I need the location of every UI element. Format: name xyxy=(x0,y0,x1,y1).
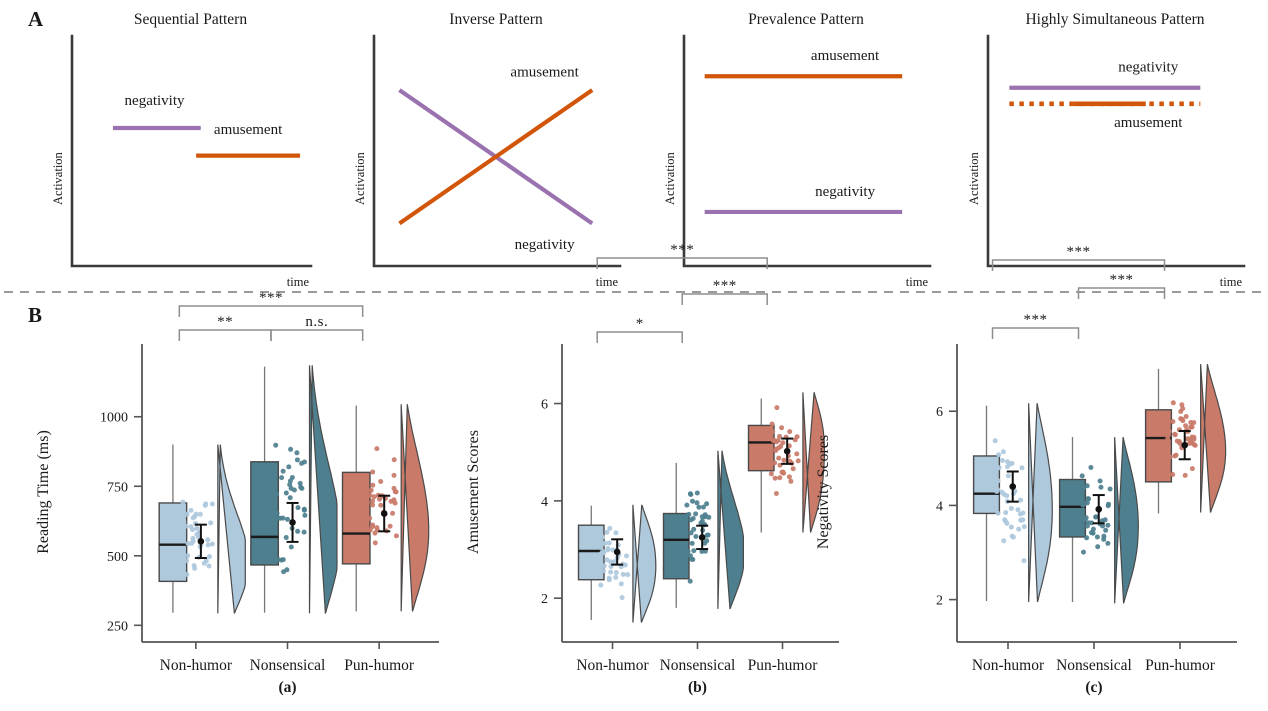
jitter-point-b-0 xyxy=(607,526,612,531)
jitter-point-b-0 xyxy=(623,563,628,568)
jitter-point-b-2 xyxy=(796,458,801,463)
jitter-point-a-0 xyxy=(186,541,191,546)
axis-y-label-prevalence: Activation xyxy=(663,151,677,205)
jitter-point-b-0 xyxy=(597,557,602,562)
jitter-point-a-2 xyxy=(373,531,378,536)
jitter-point-a-1 xyxy=(296,505,301,510)
jitter-point-c-2 xyxy=(1171,400,1176,405)
chart-subcaption-c: (c) xyxy=(1085,679,1102,696)
jitter-point-b-0 xyxy=(599,551,604,556)
sig-bracket-path-c-1 xyxy=(1079,288,1165,299)
jitter-point-c-1 xyxy=(1086,520,1091,525)
jitter-point-b-2 xyxy=(773,476,778,481)
group-b-2 xyxy=(749,392,825,532)
jitter-point-a-2 xyxy=(370,483,375,488)
jitter-point-c-1 xyxy=(1098,479,1103,484)
axis-lines-prevalence xyxy=(684,36,930,266)
jitter-point-c-0 xyxy=(996,452,1001,457)
jitter-point-b-1 xyxy=(695,500,700,505)
jitter-point-b-2 xyxy=(774,491,779,496)
jitter-point-a-0 xyxy=(180,500,185,505)
figure-root: ASequential PatternActivationtimenegativ… xyxy=(0,0,1268,711)
series-label-prevalence-amusement: amusement xyxy=(811,48,880,64)
jitter-point-c-0 xyxy=(1009,525,1014,530)
jitter-point-b-1 xyxy=(696,505,701,510)
xtick-label-c-2: Pun-humor xyxy=(1145,657,1216,674)
jitter-point-a-0 xyxy=(185,553,190,558)
jitter-point-a-2 xyxy=(373,540,378,545)
jitter-point-a-0 xyxy=(205,537,210,542)
xtick-label-c-0: Non-humor xyxy=(972,657,1045,674)
jitter-point-a-2 xyxy=(370,499,375,504)
jitter-point-c-1 xyxy=(1084,515,1089,520)
jitter-point-a-2 xyxy=(392,457,397,462)
violin-c-2 xyxy=(1201,364,1226,512)
jitter-point-c-0 xyxy=(1020,465,1025,470)
sig-bracket-path-c-0 xyxy=(993,328,1079,339)
sig-label-c-0: *** xyxy=(1024,312,1048,328)
jitter-point-b-0 xyxy=(621,572,626,577)
jitter-point-c-2 xyxy=(1183,473,1188,478)
jitter-point-c-1 xyxy=(1086,496,1091,501)
mean-point-a-2 xyxy=(381,510,388,517)
violin-c-1 xyxy=(1115,437,1139,603)
jitter-point-a-1 xyxy=(295,457,300,462)
jitter-point-c-2 xyxy=(1175,439,1180,444)
jitter-point-c-0 xyxy=(1005,521,1010,526)
series-label-inverse-negativity: negativity xyxy=(515,237,575,253)
axis-y-title-a: Reading Time (ms) xyxy=(35,430,52,554)
xtick-label-b-2: Pun-humor xyxy=(748,657,819,674)
jitter-point-a-1 xyxy=(273,443,278,448)
jitter-point-c-1 xyxy=(1105,541,1110,546)
ytick-label-a: 500 xyxy=(107,550,128,565)
jitter-point-b-1 xyxy=(689,517,694,522)
jitter-point-b-1 xyxy=(690,499,695,504)
jitter-point-c-0 xyxy=(993,438,998,443)
jitter-point-a-1 xyxy=(288,447,293,452)
jitter-point-a-2 xyxy=(364,478,369,483)
panel-a-letter: A xyxy=(28,7,44,31)
jitter-point-a-1 xyxy=(288,495,293,500)
axis-x-label-sequential: time xyxy=(287,275,310,289)
jitter-point-b-1 xyxy=(695,491,700,496)
jitter-point-a-2 xyxy=(374,446,379,451)
jitter-point-b-2 xyxy=(769,471,774,476)
jitter-point-c-1 xyxy=(1088,465,1093,470)
xtick-label-b-1: Nonsensical xyxy=(660,657,736,674)
jitter-point-c-0 xyxy=(1018,498,1023,503)
jitter-point-c-0 xyxy=(1010,534,1015,539)
jitter-point-c-2 xyxy=(1172,454,1177,459)
jitter-point-a-0 xyxy=(184,524,189,529)
pattern-panel-highly-simultaneous: Highly Simultaneous PatternActivationtim… xyxy=(967,11,1244,289)
jitter-point-a-0 xyxy=(190,536,195,541)
jitter-point-b-2 xyxy=(788,479,793,484)
jitter-point-a-2 xyxy=(390,511,395,516)
jitter-point-a-0 xyxy=(207,554,212,559)
ytick-label-b: 2 xyxy=(541,592,548,607)
chart-c: 246Negativity ScoresNon-humorNonsensical… xyxy=(815,244,1237,696)
jitter-point-b-0 xyxy=(620,595,625,600)
mean-point-c-1 xyxy=(1095,506,1102,513)
chart-b: 246Amusement ScoresNon-humorNonsensicalP… xyxy=(465,242,839,696)
jitter-point-b-2 xyxy=(779,425,784,430)
jitter-point-a-0 xyxy=(181,528,186,533)
pattern-panel-inverse: Inverse PatternActivationtimenegativitya… xyxy=(353,11,620,289)
jitter-point-a-2 xyxy=(377,497,382,502)
jitter-point-b-1 xyxy=(688,491,693,496)
jitter-point-a-1 xyxy=(278,516,283,521)
violin-b-0 xyxy=(633,505,656,623)
jitter-point-c-2 xyxy=(1178,416,1183,421)
jitter-point-b-0 xyxy=(601,568,606,573)
jitter-point-b-2 xyxy=(794,451,799,456)
sig-label-c-1: *** xyxy=(1110,272,1134,288)
sig-bracket-c-1: *** xyxy=(1079,272,1165,299)
ytick-label-b: 4 xyxy=(541,495,548,510)
jitter-point-a-1 xyxy=(284,535,289,540)
jitter-point-c-2 xyxy=(1170,472,1175,477)
jitter-point-c-1 xyxy=(1103,528,1108,533)
jitter-point-b-2 xyxy=(770,429,775,434)
jitter-point-c-1 xyxy=(1105,523,1110,528)
violin-b-1 xyxy=(718,451,744,609)
group-c-2 xyxy=(1146,364,1226,513)
ytick-label-c: 6 xyxy=(936,405,943,420)
jitter-point-c-2 xyxy=(1183,423,1188,428)
pattern-title-sequential: Sequential Pattern xyxy=(134,11,247,28)
jitter-point-c-2 xyxy=(1188,425,1193,430)
pattern-title-highly-simultaneous: Highly Simultaneous Pattern xyxy=(1025,11,1204,28)
jitter-point-c-1 xyxy=(1080,473,1085,478)
ytick-label-c: 2 xyxy=(936,594,943,609)
jitter-point-c-2 xyxy=(1173,432,1178,437)
xtick-label-a-1: Nonsensical xyxy=(250,657,326,674)
jitter-point-c-1 xyxy=(1099,485,1104,490)
jitter-point-c-0 xyxy=(1022,558,1027,563)
jitter-point-c-0 xyxy=(1010,461,1015,466)
jitter-point-b-2 xyxy=(774,405,779,410)
group-a-2 xyxy=(343,404,429,611)
axis-y-title-b: Amusement Scores xyxy=(465,430,482,554)
jitter-point-a-0 xyxy=(210,502,215,507)
jitter-point-c-1 xyxy=(1091,531,1096,536)
jitter-point-c-0 xyxy=(994,489,999,494)
jitter-point-b-0 xyxy=(619,581,624,586)
sig-label-a-1: n.s. xyxy=(305,314,328,330)
jitter-point-b-1 xyxy=(688,553,693,558)
axis-y-title-c: Negativity Scores xyxy=(815,435,832,549)
xtick-label-a-2: Pun-humor xyxy=(344,657,415,674)
jitter-point-c-1 xyxy=(1095,544,1100,549)
chart-subcaption-b: (b) xyxy=(688,679,707,696)
jitter-point-a-0 xyxy=(184,558,189,563)
group-b-0 xyxy=(579,505,656,623)
box-c-2 xyxy=(1146,410,1172,482)
jitter-point-b-1 xyxy=(691,527,696,532)
figure-canvas: ASequential PatternActivationtimenegativ… xyxy=(0,0,1268,711)
box-a-0 xyxy=(159,503,187,581)
jitter-point-b-0 xyxy=(625,572,630,577)
box-c-0 xyxy=(974,456,1000,513)
axis-x-label-inverse: time xyxy=(596,275,619,289)
jitter-point-a-1 xyxy=(302,507,307,512)
xtick-label-c-1: Nonsensical xyxy=(1056,657,1132,674)
jitter-point-b-2 xyxy=(781,458,786,463)
jitter-point-b-1 xyxy=(693,511,698,516)
mean-point-c-0 xyxy=(1009,483,1016,490)
jitter-point-c-0 xyxy=(1001,449,1006,454)
jitter-point-c-1 xyxy=(1079,510,1084,515)
jitter-point-c-0 xyxy=(1006,473,1011,478)
panel-b-letter: B xyxy=(28,303,42,327)
ytick-label-c: 4 xyxy=(936,499,943,514)
pattern-title-prevalence: Prevalence Pattern xyxy=(748,11,864,28)
jitter-point-a-0 xyxy=(189,524,194,529)
sig-bracket-path-a-0 xyxy=(179,330,271,341)
sig-label-a-0: ** xyxy=(217,314,233,330)
jitter-point-c-0 xyxy=(995,511,1000,516)
chart-a: 2505007501000Reading Time (ms)Non-humorN… xyxy=(35,290,439,696)
jitter-point-a-0 xyxy=(202,561,207,566)
jitter-point-a-0 xyxy=(189,508,194,513)
jitter-point-c-1 xyxy=(1103,517,1108,522)
violin-c-0 xyxy=(1029,403,1053,602)
jitter-point-b-0 xyxy=(598,583,603,588)
jitter-point-b-0 xyxy=(607,577,612,582)
box-a-1 xyxy=(251,462,278,565)
jitter-point-c-2 xyxy=(1167,429,1172,434)
sig-bracket-b-0: * xyxy=(597,316,682,343)
jitter-point-a-0 xyxy=(194,512,199,517)
jitter-point-b-2 xyxy=(791,466,796,471)
axis-x-label-highly-simultaneous: time xyxy=(1220,275,1243,289)
box-b-1 xyxy=(664,514,690,579)
jitter-point-a-2 xyxy=(394,489,399,494)
jitter-point-c-0 xyxy=(1003,510,1008,515)
jitter-point-c-2 xyxy=(1189,435,1194,440)
ytick-label-b: 6 xyxy=(541,398,548,413)
group-c-0 xyxy=(974,403,1053,602)
mean-point-b-0 xyxy=(614,549,621,556)
sig-bracket-a-1: n.s. xyxy=(271,314,363,341)
jitter-point-b-0 xyxy=(614,570,619,575)
jitter-point-a-2 xyxy=(367,516,372,521)
axis-y-label-highly-simultaneous: Activation xyxy=(967,151,981,205)
jitter-point-a-2 xyxy=(392,497,397,502)
jitter-point-a-2 xyxy=(368,528,373,533)
jitter-point-a-0 xyxy=(185,512,190,517)
jitter-point-c-2 xyxy=(1165,436,1170,441)
jitter-point-c-1 xyxy=(1106,503,1111,508)
jitter-point-c-0 xyxy=(1022,524,1027,529)
axis-x-label-prevalence: time xyxy=(906,275,929,289)
jitter-point-c-0 xyxy=(1000,458,1005,463)
jitter-point-a-0 xyxy=(203,501,208,506)
jitter-point-a-1 xyxy=(302,513,307,518)
jitter-point-a-1 xyxy=(275,511,280,516)
jitter-point-b-2 xyxy=(787,474,792,479)
mean-point-c-2 xyxy=(1181,442,1188,449)
jitter-point-a-2 xyxy=(370,470,375,475)
jitter-point-c-1 xyxy=(1085,500,1090,505)
group-a-0 xyxy=(159,445,245,614)
group-b-1 xyxy=(664,451,744,609)
sig-bracket-a-0: ** xyxy=(179,314,271,341)
jitter-point-b-0 xyxy=(613,575,618,580)
jitter-point-b-1 xyxy=(693,534,698,539)
jitter-point-b-2 xyxy=(773,448,778,453)
sig-bracket-c-0: *** xyxy=(993,312,1079,339)
jitter-point-a-1 xyxy=(281,469,286,474)
jitter-point-b-1 xyxy=(691,548,696,553)
sig-bracket-path-a-2 xyxy=(179,306,362,317)
jitter-point-c-2 xyxy=(1179,402,1184,407)
jitter-point-a-0 xyxy=(206,542,211,547)
jitter-point-a-1 xyxy=(302,460,307,465)
sig-label-a-2: *** xyxy=(259,290,283,306)
violin-a-2 xyxy=(401,404,429,611)
pattern-panel-prevalence: Prevalence PatternActivationtimeamusemen… xyxy=(663,11,930,289)
xtick-label-a-0: Non-humor xyxy=(160,657,233,674)
jitter-point-a-2 xyxy=(392,473,397,478)
jitter-point-b-1 xyxy=(686,549,691,554)
axis-y-label-inverse: Activation xyxy=(353,151,367,205)
jitter-point-b-2 xyxy=(768,465,773,470)
jitter-point-a-1 xyxy=(284,567,289,572)
jitter-point-c-0 xyxy=(1009,506,1014,511)
chart-subcaption-a: (a) xyxy=(278,679,296,696)
jitter-point-a-0 xyxy=(192,566,197,571)
jitter-point-b-1 xyxy=(686,512,691,517)
jitter-point-b-0 xyxy=(600,534,605,539)
jitter-point-a-2 xyxy=(378,479,383,484)
jitter-point-c-0 xyxy=(1002,492,1007,497)
panel-b: B2505007501000Reading Time (ms)Non-humor… xyxy=(28,242,1237,696)
sig-label-b-0: * xyxy=(636,316,644,332)
jitter-point-a-2 xyxy=(369,488,374,493)
series-label-highly-simultaneous-negativity: negativity xyxy=(1118,60,1178,76)
sig-label-b-2: *** xyxy=(670,242,694,258)
jitter-point-b-2 xyxy=(777,475,782,480)
jitter-point-a-1 xyxy=(276,557,281,562)
jitter-point-c-0 xyxy=(1001,538,1006,543)
jitter-point-b-2 xyxy=(770,422,775,427)
jitter-point-c-0 xyxy=(1018,518,1023,523)
mean-point-a-1 xyxy=(289,519,296,526)
jitter-point-b-2 xyxy=(772,438,777,443)
axis-lines-highly-simultaneous xyxy=(988,36,1244,266)
series-label-prevalence-negativity: negativity xyxy=(815,184,875,200)
jitter-point-a-1 xyxy=(287,482,292,487)
jitter-point-c-0 xyxy=(1016,527,1021,532)
jitter-point-a-1 xyxy=(298,481,303,486)
jitter-point-c-0 xyxy=(996,478,1001,483)
jitter-point-a-1 xyxy=(289,545,294,550)
jitter-point-a-1 xyxy=(292,488,297,493)
jitter-point-a-2 xyxy=(378,503,383,508)
ytick-label-a: 750 xyxy=(107,480,128,495)
jitter-point-a-0 xyxy=(210,542,215,547)
jitter-point-b-0 xyxy=(602,563,607,568)
jitter-point-a-1 xyxy=(281,557,286,562)
ytick-label-a: 250 xyxy=(107,619,128,634)
mean-point-a-0 xyxy=(198,538,205,545)
jitter-point-a-2 xyxy=(388,524,393,529)
series-label-sequential-negativity: negativity xyxy=(125,93,185,109)
jitter-point-a-1 xyxy=(279,475,284,480)
sig-bracket-path-b-2 xyxy=(597,258,767,269)
jitter-point-a-1 xyxy=(274,492,279,497)
series-label-inverse-amusement: amusement xyxy=(510,64,579,80)
jitter-point-a-2 xyxy=(394,533,399,538)
sig-bracket-path-b-1 xyxy=(682,294,767,305)
jitter-point-b-1 xyxy=(690,541,695,546)
pattern-panel-sequential: Sequential PatternActivationtimenegativi… xyxy=(51,11,311,289)
sig-label-b-1: *** xyxy=(713,278,737,294)
jitter-point-b-2 xyxy=(795,434,800,439)
jitter-point-b-2 xyxy=(787,429,792,434)
jitter-point-c-1 xyxy=(1084,535,1089,540)
jitter-point-c-0 xyxy=(997,465,1002,470)
jitter-point-c-2 xyxy=(1190,466,1195,471)
violin-a-1 xyxy=(310,365,338,613)
jitter-point-a-1 xyxy=(295,529,300,534)
jitter-point-b-2 xyxy=(776,456,781,461)
jitter-point-b-0 xyxy=(614,530,619,535)
jitter-point-c-1 xyxy=(1101,537,1106,542)
jitter-point-c-0 xyxy=(1018,512,1023,517)
jitter-point-a-0 xyxy=(184,572,189,577)
jitter-point-c-2 xyxy=(1168,454,1173,459)
xtick-label-b-0: Non-humor xyxy=(576,657,649,674)
jitter-point-b-1 xyxy=(700,514,705,519)
jitter-point-c-0 xyxy=(1015,507,1020,512)
jitter-point-b-0 xyxy=(605,546,610,551)
axis-lines-inverse xyxy=(374,36,620,266)
jitter-point-a-1 xyxy=(286,464,291,469)
jitter-point-b-0 xyxy=(624,553,629,558)
group-c-1 xyxy=(1060,437,1139,603)
jitter-point-a-1 xyxy=(302,530,307,535)
series-label-sequential-amusement: amusement xyxy=(214,122,283,138)
jitter-point-a-2 xyxy=(364,505,369,510)
jitter-point-a-2 xyxy=(374,525,379,530)
box-a-2 xyxy=(343,472,371,563)
jitter-point-c-2 xyxy=(1189,440,1194,445)
box-b-2 xyxy=(749,425,775,470)
jitter-point-c-1 xyxy=(1108,487,1113,492)
mean-point-b-1 xyxy=(699,534,706,541)
sig-label-c-2: *** xyxy=(1067,244,1091,260)
group-a-1 xyxy=(251,365,337,613)
jitter-point-a-0 xyxy=(198,512,203,517)
jitter-point-a-0 xyxy=(207,564,212,569)
panel-a: ASequential PatternActivationtimenegativ… xyxy=(28,7,1244,289)
jitter-point-a-0 xyxy=(181,519,186,524)
jitter-point-a-1 xyxy=(285,517,290,522)
jitter-point-a-0 xyxy=(208,520,213,525)
series-label-highly-simultaneous-amusement: amusement xyxy=(1114,115,1183,131)
jitter-point-c-1 xyxy=(1095,535,1100,540)
sig-bracket-a-2: *** xyxy=(179,290,362,317)
jitter-point-b-1 xyxy=(701,505,706,510)
jitter-point-b-1 xyxy=(688,579,693,584)
pattern-title-inverse: Inverse Pattern xyxy=(449,11,543,28)
jitter-point-c-2 xyxy=(1191,420,1196,425)
jitter-point-a-1 xyxy=(299,486,304,491)
